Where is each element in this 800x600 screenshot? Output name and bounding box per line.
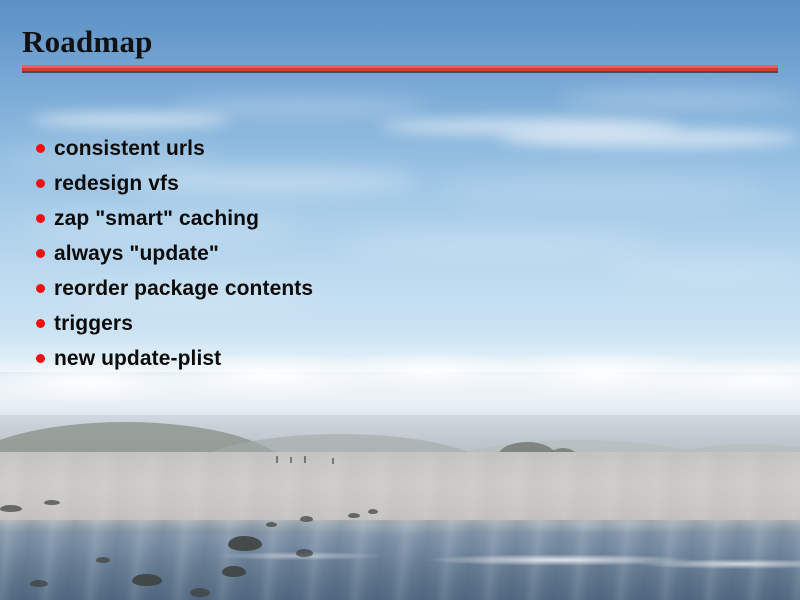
bullet-dot-icon [36, 249, 45, 258]
bullet-label: zap "smart" caching [54, 207, 259, 231]
bullet-label: triggers [54, 312, 133, 336]
slide-content: Roadmap consistent urls redesign vfs zap… [0, 0, 800, 600]
bullet-dot-icon [36, 179, 45, 188]
presentation-slide: Roadmap consistent urls redesign vfs zap… [0, 0, 800, 600]
bullet-item: redesign vfs [36, 166, 313, 201]
bullet-label: consistent urls [54, 137, 205, 161]
title-underline-rule [22, 65, 778, 73]
bullet-label: new update-plist [54, 347, 221, 371]
bullet-item: always "update" [36, 236, 313, 271]
bullet-label: reorder package contents [54, 277, 313, 301]
bullet-item: consistent urls [36, 131, 313, 166]
slide-title: Roadmap [22, 24, 153, 60]
bullet-dot-icon [36, 144, 45, 153]
bullet-dot-icon [36, 319, 45, 328]
bullet-label: redesign vfs [54, 172, 179, 196]
bullet-item: new update-plist [36, 341, 313, 376]
bullet-item: triggers [36, 306, 313, 341]
bullet-list: consistent urls redesign vfs zap "smart"… [36, 131, 313, 376]
rule-shadow-band [22, 71, 778, 73]
bullet-dot-icon [36, 214, 45, 223]
bullet-item: zap "smart" caching [36, 201, 313, 236]
bullet-dot-icon [36, 354, 45, 363]
bullet-label: always "update" [54, 242, 219, 266]
bullet-item: reorder package contents [36, 271, 313, 306]
bullet-dot-icon [36, 284, 45, 293]
